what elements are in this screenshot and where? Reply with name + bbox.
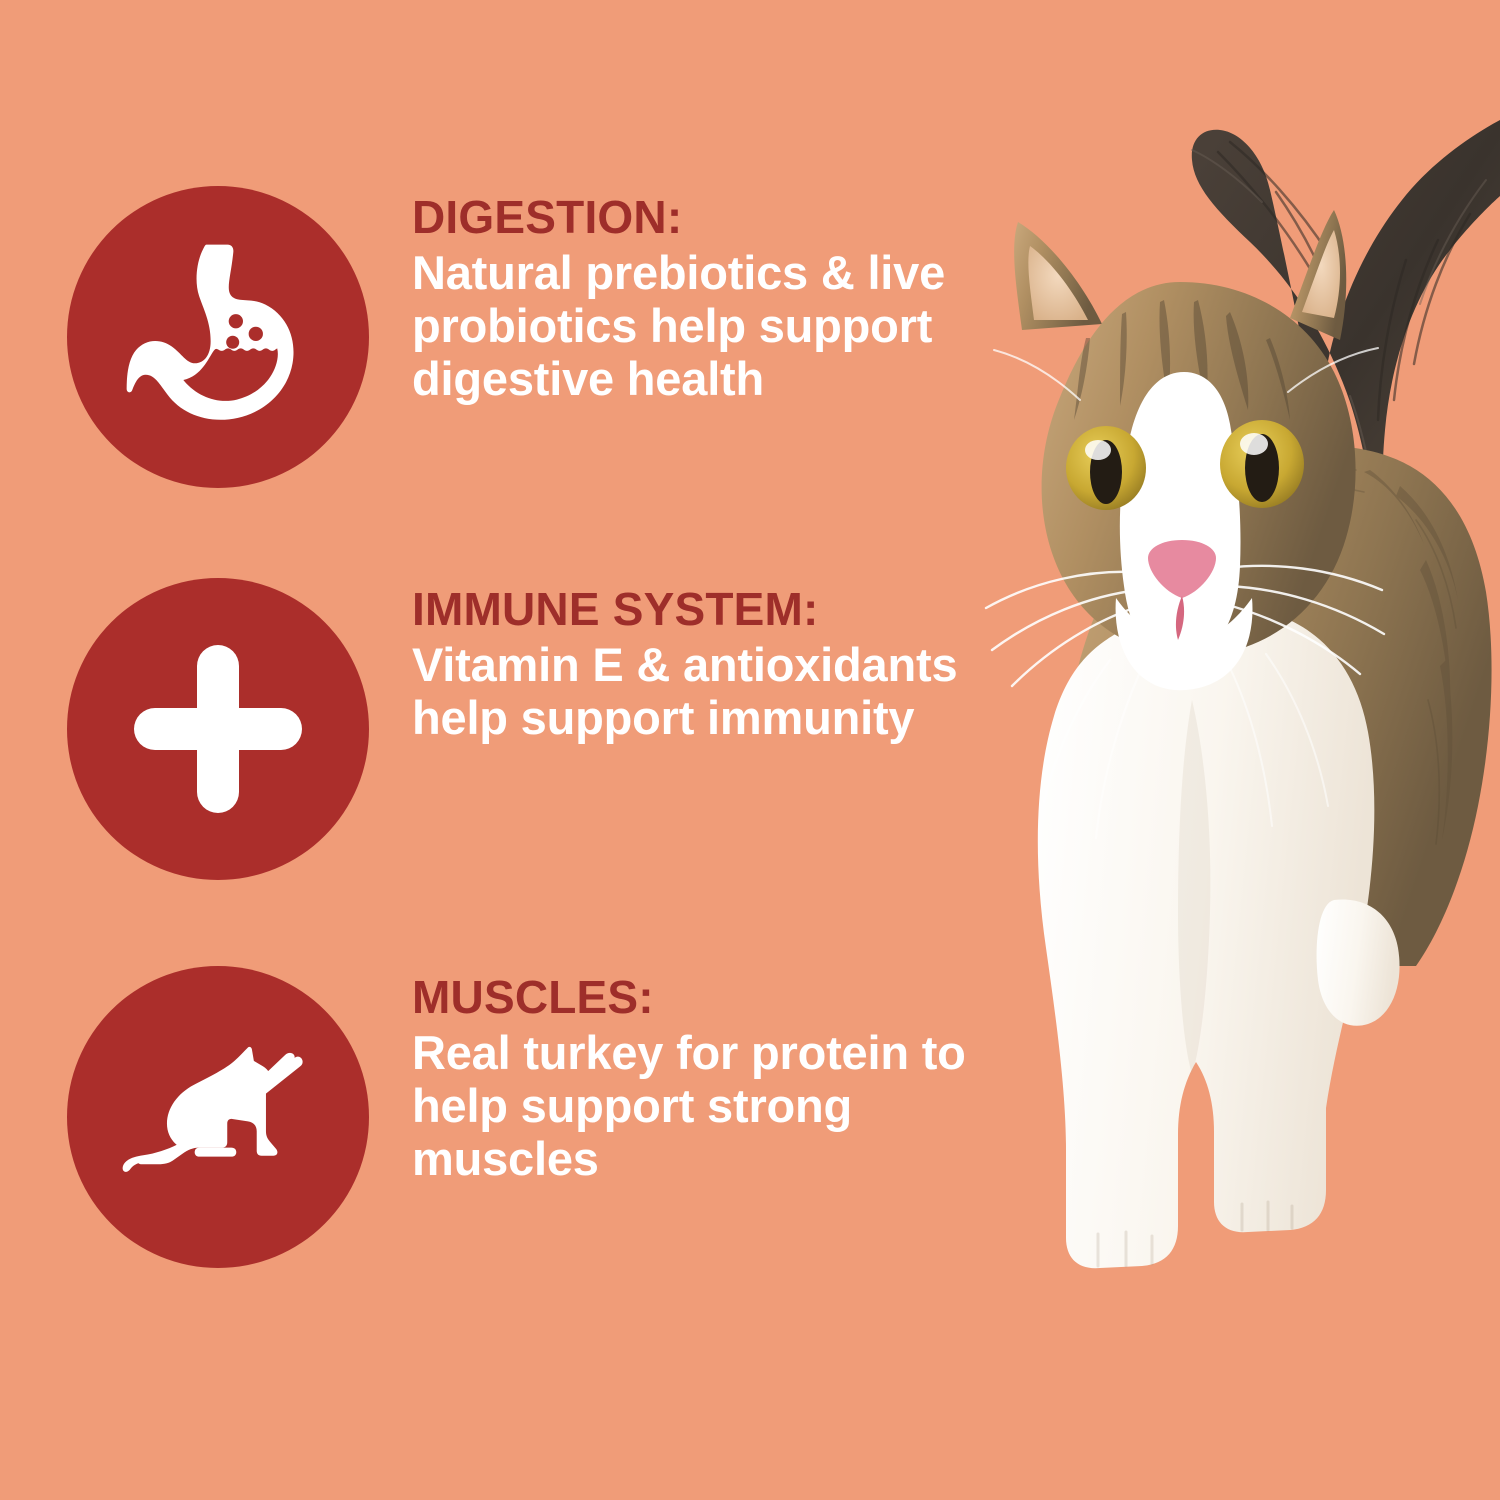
digestion-heading: DIGESTION: bbox=[412, 194, 972, 240]
cat-tail bbox=[1192, 120, 1500, 700]
immune-icon-badge bbox=[67, 578, 369, 880]
muscles-body: Real turkey for protein to help support … bbox=[412, 1026, 972, 1185]
muscles-text-block: MUSCLES: Real turkey for protein to help… bbox=[412, 966, 972, 1185]
digestion-text-block: DIGESTION: Natural prebiotics & live pro… bbox=[412, 186, 972, 405]
benefit-row-muscles: MUSCLES: Real turkey for protein to help… bbox=[0, 966, 980, 1268]
benefit-row-digestion: DIGESTION: Natural prebiotics & live pro… bbox=[0, 186, 980, 488]
cat-chest-and-legs bbox=[1038, 606, 1400, 1269]
cat-photo bbox=[930, 0, 1500, 1500]
digestion-body: Natural prebiotics & live probiotics hel… bbox=[412, 246, 972, 405]
muscles-heading: MUSCLES: bbox=[412, 974, 972, 1020]
cat-eye-right bbox=[1220, 420, 1304, 508]
plus-icon bbox=[118, 629, 318, 829]
immune-body: Vitamin E & antioxidants help support im… bbox=[412, 638, 972, 744]
cat-silhouette-icon bbox=[108, 1007, 328, 1227]
digestion-icon-badge bbox=[67, 186, 369, 488]
cat-body bbox=[1064, 446, 1492, 966]
immune-text-block: IMMUNE SYSTEM: Vitamin E & antioxidants … bbox=[412, 578, 972, 744]
cat-eye-left bbox=[1066, 426, 1146, 510]
muscles-icon-badge bbox=[67, 966, 369, 1268]
immune-heading: IMMUNE SYSTEM: bbox=[412, 586, 972, 632]
stomach-icon bbox=[113, 232, 323, 442]
benefit-row-immune-system: IMMUNE SYSTEM: Vitamin E & antioxidants … bbox=[0, 578, 980, 880]
infographic-canvas: DIGESTION: Natural prebiotics & live pro… bbox=[0, 0, 1500, 1500]
cat-head bbox=[986, 210, 1384, 690]
